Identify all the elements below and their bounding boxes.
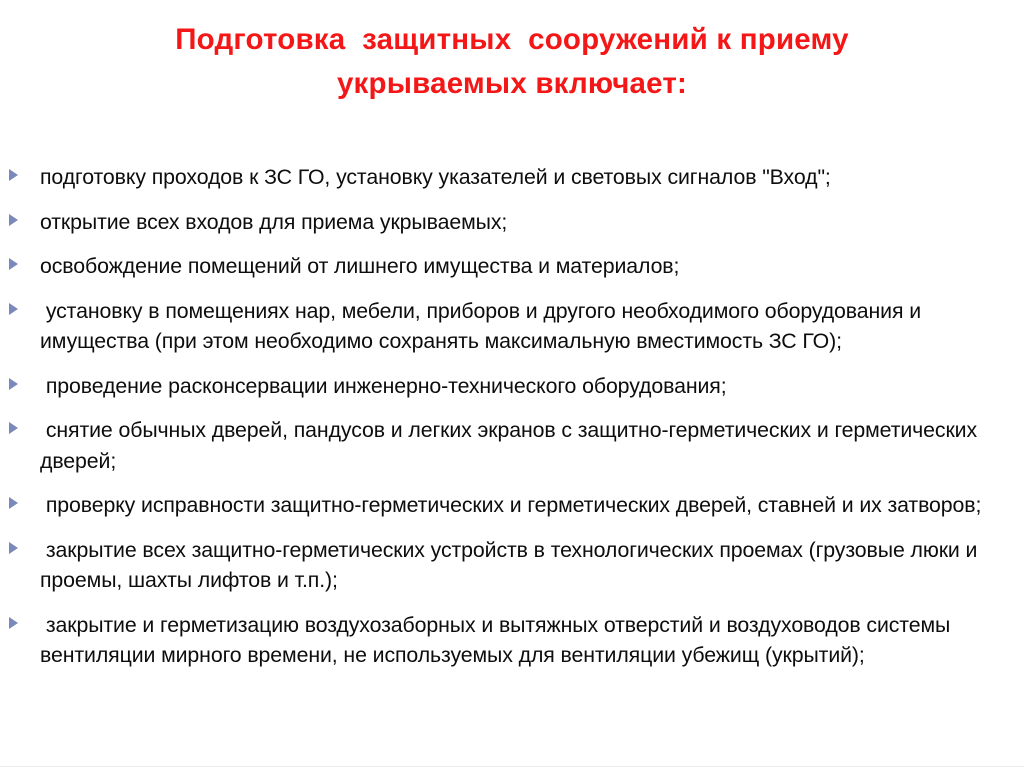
list-item: подготовку проходов к ЗС ГО, установку у… — [0, 162, 1024, 193]
slide-title-line-2: укрываемых включает: — [52, 62, 972, 106]
list-item-text: закрытие всех защитно-герметических устр… — [40, 535, 1006, 596]
list-item: закрытие и герметизацию воздухозаборных … — [0, 610, 1024, 671]
triangle-right-icon — [9, 258, 18, 270]
triangle-right-icon — [9, 169, 18, 181]
triangle-right-icon — [9, 497, 18, 509]
list-item: снятие обычных дверей, пандусов и легких… — [0, 415, 1024, 476]
slide-canvas: Подготовка защитных сооружений к приему … — [0, 0, 1024, 767]
list-item-text: проведение расконсервации инженерно-техн… — [40, 371, 1006, 402]
triangle-right-icon — [9, 617, 18, 629]
triangle-right-icon — [9, 542, 18, 554]
list-item: проверку исправности защитно-герметическ… — [0, 490, 1024, 521]
list-item-text: освобождение помещений от лишнего имущес… — [40, 251, 1006, 282]
list-item-text: закрытие и герметизацию воздухозаборных … — [40, 610, 1006, 671]
list-item-text: снятие обычных дверей, пандусов и легких… — [40, 415, 1006, 476]
triangle-right-icon — [9, 378, 18, 390]
list-item-text: открытие всех входов для приема укрываем… — [40, 207, 1006, 238]
list-item-text: проверку исправности защитно-герметическ… — [40, 490, 1006, 521]
slide-title-line-1: Подготовка защитных сооружений к приему — [52, 18, 972, 62]
list-item: проведение расконсервации инженерно-техн… — [0, 371, 1024, 402]
list-item: открытие всех входов для приема укрываем… — [0, 207, 1024, 238]
list-item: установку в помещениях нар, мебели, приб… — [0, 296, 1024, 357]
triangle-right-icon — [9, 422, 18, 434]
list-item: освобождение помещений от лишнего имущес… — [0, 251, 1024, 282]
triangle-right-icon — [9, 214, 18, 226]
list-item-text: установку в помещениях нар, мебели, приб… — [40, 296, 1006, 357]
triangle-right-icon — [9, 303, 18, 315]
slide-title: Подготовка защитных сооружений к приему … — [52, 18, 972, 106]
list-item-text: подготовку проходов к ЗС ГО, установку у… — [40, 162, 1006, 193]
list-item: закрытие всех защитно-герметических устр… — [0, 535, 1024, 596]
bullet-list: подготовку проходов к ЗС ГО, установку у… — [0, 162, 1024, 685]
